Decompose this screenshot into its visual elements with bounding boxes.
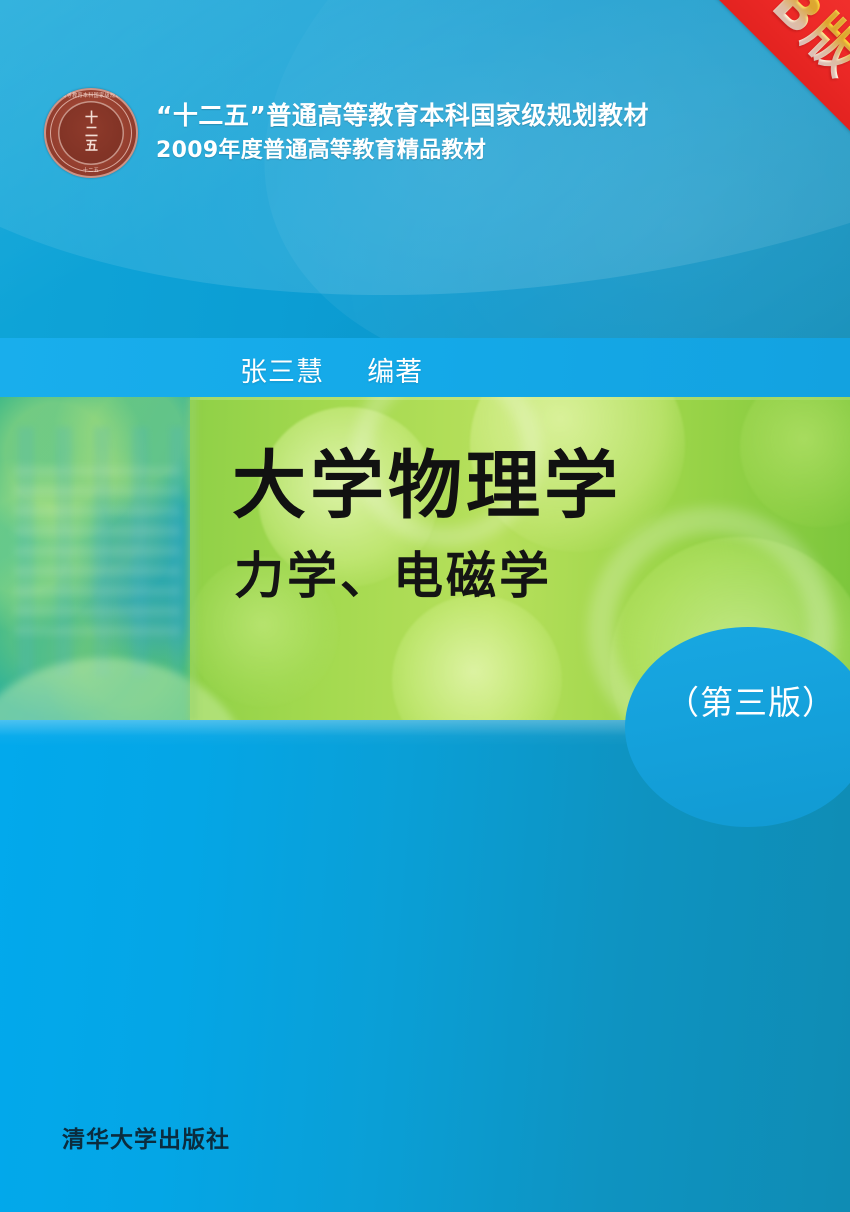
author-line: 张三慧 编著 bbox=[240, 350, 423, 389]
panel-edge-blend bbox=[184, 397, 200, 720]
national-planning-seal-icon: 普通高等教育本科国家级规划教材 十二五 十二五 bbox=[44, 88, 138, 178]
bokeh-circle bbox=[740, 397, 850, 527]
panel-stripe-texture bbox=[14, 457, 180, 647]
book-title: 大学物理学 bbox=[232, 444, 622, 528]
accreditation-lines: “十二五”普通高等教育本科国家级规划教材 2009年度普通高等教育精品教材 bbox=[156, 101, 649, 165]
author-role: 编著 bbox=[367, 357, 423, 388]
author-band-background bbox=[0, 338, 850, 397]
seal-glyph-text: 十二五 bbox=[44, 112, 138, 154]
publisher-name: 清华大学出版社 bbox=[62, 1120, 230, 1154]
accreditation-line-1: “十二五”普通高等教育本科国家级规划教材 bbox=[156, 101, 649, 131]
book-cover: 普通高等教育本科国家级规划教材 十二五 十二五 “十二五”普通高等教育本科国家级… bbox=[0, 0, 850, 1212]
accreditation-header: 普通高等教育本科国家级规划教材 十二五 十二五 “十二五”普通高等教育本科国家级… bbox=[44, 88, 649, 178]
edition-label: （第三版） bbox=[646, 676, 850, 724]
teal-texture-panel bbox=[0, 397, 190, 720]
seal-arc-text-bottom: 十二五 bbox=[44, 167, 138, 175]
seal-arc-text-top: 普通高等教育本科国家级规划教材 bbox=[44, 92, 138, 100]
book-subtitle: 力学、电磁学 bbox=[234, 545, 552, 607]
accreditation-line-2: 2009年度普通高等教育精品教材 bbox=[156, 137, 649, 165]
author-name: 张三慧 bbox=[240, 357, 324, 388]
bokeh-circle bbox=[392, 595, 562, 720]
